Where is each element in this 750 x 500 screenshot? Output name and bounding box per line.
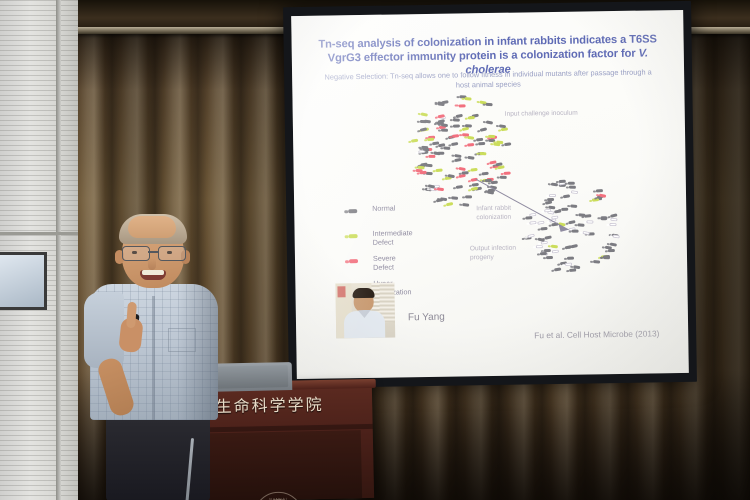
- bacterium-marker: [554, 268, 561, 273]
- bacterium-marker: [571, 244, 579, 249]
- bacterium-marker: [468, 156, 475, 160]
- slide-citation: Fu et al. Cell Host Microbe (2013): [534, 328, 659, 340]
- speaker-forehead: [128, 216, 176, 238]
- lecture-hall-scene: Tn-seq analysis of colonization in infan…: [0, 0, 750, 500]
- speaker-person: [82, 210, 242, 500]
- bacterium-marker: [428, 155, 435, 158]
- legend-swatch-icon: [348, 209, 357, 214]
- legend-swatch-icon: [349, 234, 358, 239]
- speaker-index-finger: [126, 302, 137, 329]
- legend-label: Normal: [372, 203, 395, 212]
- bacterium-marker: [451, 196, 458, 200]
- bacterium-marker: [496, 140, 503, 144]
- speaker-nose: [148, 258, 156, 270]
- bacterium-marker: [420, 127, 428, 132]
- bacterium-marker: [411, 139, 418, 143]
- projector-screen: Tn-seq analysis of colonization in infan…: [291, 10, 689, 379]
- bacterium-marker: [535, 245, 542, 248]
- projector-screen-frame: Tn-seq analysis of colonization in infan…: [283, 1, 697, 388]
- bacterium-marker: [569, 269, 576, 273]
- wall-panel-edge: [56, 0, 61, 500]
- person-photo: [335, 283, 395, 339]
- bacterium-marker: [423, 120, 430, 124]
- bacterium-marker: [454, 158, 461, 163]
- bacterium-marker: [497, 165, 505, 170]
- bacterium-marker: [550, 244, 557, 248]
- bacterium-marker: [504, 142, 511, 146]
- annotation-infant-rabbit: Infant rabbit colonization: [476, 204, 534, 222]
- photo-poster: [337, 286, 345, 297]
- speaker-glasses: [120, 246, 186, 259]
- bacterium-marker: [603, 256, 610, 260]
- legend-label: Severe Defect: [373, 253, 396, 271]
- bacterium-marker: [453, 124, 460, 128]
- bacterium-marker: [464, 97, 471, 101]
- bacterium-marker: [488, 135, 495, 139]
- speaker-shirt-shadow: [178, 284, 218, 420]
- bacterium-marker: [427, 138, 434, 142]
- slide-title-line2: VgrG3 effector immunity protein is a col…: [328, 48, 639, 65]
- glasses-lens-right: [158, 246, 186, 261]
- photo-hair: [352, 288, 374, 298]
- speaker-teeth: [142, 270, 164, 275]
- bacterium-marker: [441, 100, 448, 105]
- legend-label: Intermediate Defect: [373, 228, 413, 247]
- university-seal: NANKAI UNIVERSITY 南開: [253, 491, 304, 500]
- annotation-input-challenge: Input challenge inoculum: [505, 110, 585, 120]
- bacterium-marker: [608, 249, 615, 253]
- bacterium-marker: [540, 251, 547, 255]
- bacterium-marker: [462, 133, 469, 137]
- speaker-mouth: [140, 270, 166, 280]
- secondary-monitor: [0, 252, 47, 310]
- speaker-shirt-placket: [152, 296, 155, 420]
- bacterium-marker: [479, 128, 487, 133]
- glasses-bridge: [148, 251, 158, 253]
- left-wall: [0, 0, 86, 500]
- bacterium-marker: [486, 103, 493, 107]
- bacterium-marker: [467, 143, 474, 147]
- bacterium-marker: [610, 218, 617, 222]
- glasses-lens-left: [122, 246, 150, 261]
- bacterium-marker: [420, 112, 428, 117]
- wall-panel-seam: [0, 232, 86, 235]
- photo-caption: Fu Yang: [408, 312, 445, 324]
- bacterium-marker: [479, 151, 486, 155]
- wall-texture: [0, 0, 86, 500]
- bacterium-marker: [441, 129, 448, 133]
- legend-swatch-icon: [349, 259, 358, 264]
- bacterium-marker: [470, 168, 477, 172]
- annotation-output-progeny: Output infection progeny: [470, 244, 532, 262]
- bacterium-marker: [435, 169, 442, 173]
- bacterium-marker: [436, 188, 443, 192]
- bacterium-marker: [454, 154, 461, 158]
- speaker-shirt-pocket: [168, 328, 196, 352]
- bacterium-marker: [610, 223, 617, 226]
- bacterium-marker: [458, 104, 465, 108]
- bacterium-marker: [567, 256, 574, 260]
- bacterium-marker: [478, 142, 485, 146]
- bacterium-marker: [546, 256, 553, 260]
- bacterium-marker: [461, 171, 468, 175]
- slide-subtitle: Negative Selection: Tn-seq allows one to…: [322, 67, 654, 91]
- bacterium-marker: [593, 260, 600, 264]
- bacterium-marker: [613, 234, 620, 238]
- bacterium-marker: [596, 189, 603, 193]
- speaker-sleeve: [84, 292, 124, 368]
- bacterium-marker: [468, 116, 475, 120]
- bacterium-marker: [443, 146, 450, 150]
- bacterium-marker: [451, 141, 458, 146]
- university-seal-text: NANKAI UNIVERSITY: [254, 496, 302, 500]
- bacterium-marker: [456, 185, 463, 189]
- bacterium-marker: [552, 250, 559, 254]
- speaker-pants: [106, 415, 210, 500]
- bacterium-marker: [462, 203, 469, 207]
- bacterium-marker: [486, 121, 493, 126]
- bacterium-marker: [445, 202, 453, 207]
- bacterium-marker: [453, 118, 460, 122]
- bacterium-marker: [452, 134, 459, 138]
